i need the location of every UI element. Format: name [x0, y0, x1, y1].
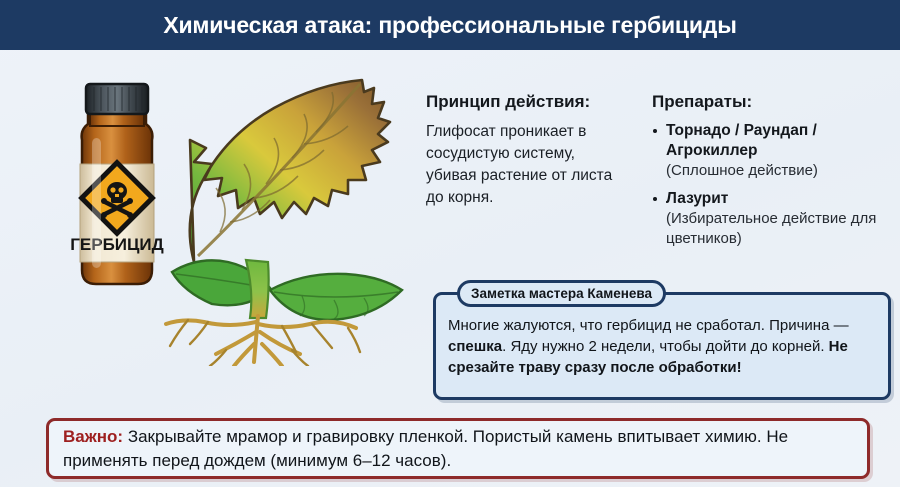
- note-text-bold1: спешка: [448, 338, 502, 355]
- page-title: Химическая атака: профессиональные герби…: [163, 12, 736, 39]
- products-column: Препараты: Торнадо / Раундап / Агрокилле…: [652, 92, 896, 257]
- damaged-plant-illustration: [150, 66, 430, 366]
- principle-column: Принцип действия: Глифосат проникает в с…: [426, 92, 626, 209]
- master-note-tag: Заметка мастера Каменева: [457, 280, 666, 307]
- important-label: Важно:: [63, 427, 123, 446]
- product-name: Торнадо / Раундап / Агрокиллер: [666, 121, 896, 161]
- product-name: Лазурит: [666, 189, 896, 209]
- list-item: Лазурит (Избирательное действие для цвет…: [652, 189, 896, 249]
- master-note-body: Многие жалуются, что гербицид не сработа…: [448, 315, 878, 378]
- products-heading: Препараты:: [652, 92, 896, 112]
- important-text: Важно: Закрывайте мрамор и гравировку пл…: [63, 425, 853, 473]
- note-text-part2: . Яду нужно 2 недели, чтобы дойти до кор…: [502, 338, 829, 355]
- product-description: (Сплошное действие): [666, 161, 896, 181]
- note-text-part1: Многие жалуются, что гербицид не сработа…: [448, 317, 849, 334]
- important-warning-box: Важно: Закрывайте мрамор и гравировку пл…: [46, 418, 870, 479]
- list-item: Торнадо / Раундап / Агрокиллер (Сплошное…: [652, 121, 896, 181]
- principle-heading: Принцип действия:: [426, 92, 626, 112]
- master-note-box: Заметка мастера Каменева Многие жалуются…: [433, 292, 891, 400]
- header-bar: Химическая атака: профессиональные герби…: [0, 0, 900, 50]
- product-description: (Избирательное действие для цветников): [666, 209, 896, 249]
- important-body: Закрывайте мрамор и гравировку пленкой. …: [63, 427, 788, 470]
- principle-body: Глифосат проникает в сосудистую систему,…: [426, 121, 626, 209]
- infographic-root: Химическая атака: профессиональные герби…: [0, 0, 900, 487]
- products-list: Торнадо / Раундап / Агрокиллер (Сплошное…: [652, 121, 896, 249]
